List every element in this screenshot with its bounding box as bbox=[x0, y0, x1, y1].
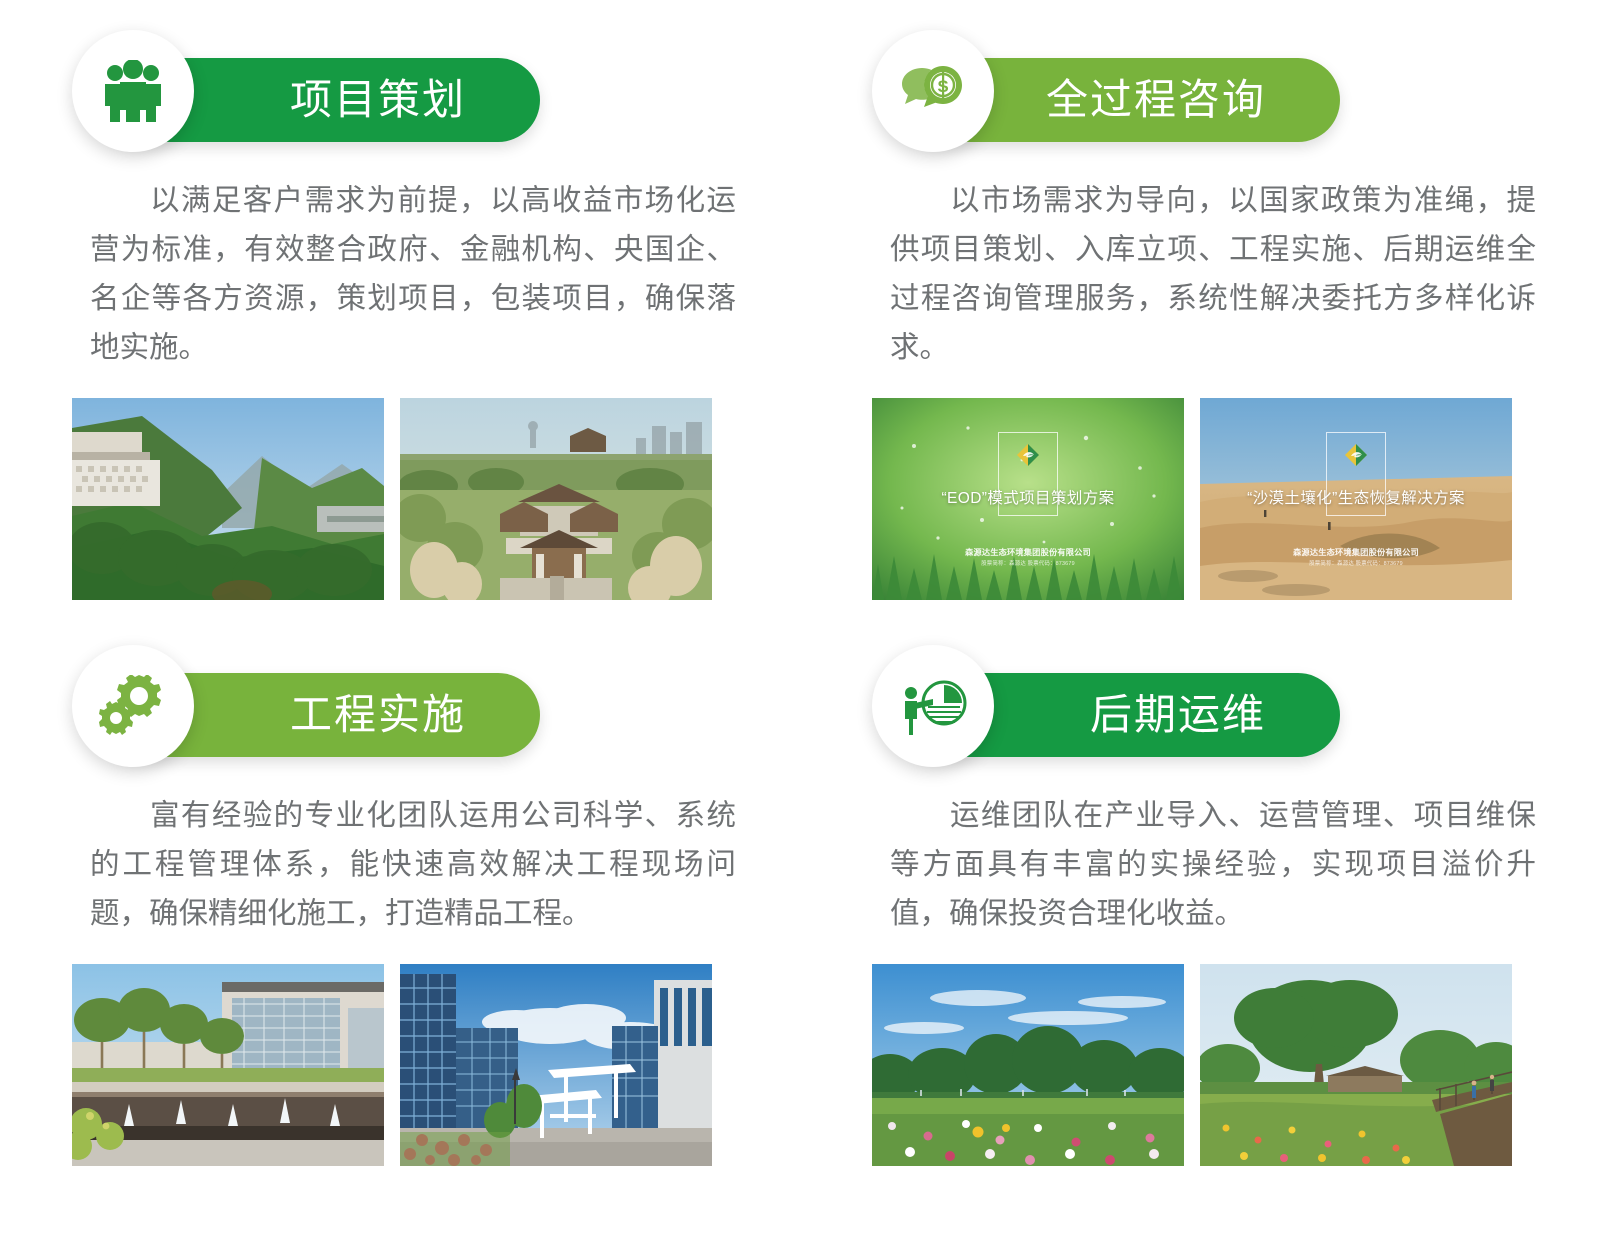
chat-dollar-icon: S bbox=[900, 62, 966, 120]
card-icon-badge: S bbox=[872, 30, 994, 152]
desert-soilization-proposal-cover-photo: “沙漠土壤化”生态恢复解决方案 森源达生态环境集团股份有限公司 股票简称：森源达… bbox=[1200, 398, 1512, 600]
card-header: 工程实施 bbox=[72, 645, 792, 785]
card-title: 项目策划 bbox=[290, 79, 466, 121]
park-boardwalk-tree-photo bbox=[1200, 964, 1512, 1166]
cover-stock-info: 股票简称：森源达 股票代码：873679 bbox=[1200, 559, 1512, 567]
presenter-pie-chart-icon bbox=[899, 675, 967, 737]
card-title: 工程实施 bbox=[290, 694, 466, 736]
card-icon-badge bbox=[72, 30, 194, 152]
card-photo-row bbox=[72, 398, 792, 600]
aerial-park-pavilion-photo bbox=[400, 398, 712, 600]
card-title: 全过程咨询 bbox=[1046, 79, 1266, 121]
card-icon-badge bbox=[872, 645, 994, 767]
courtyard-water-feature-photo bbox=[72, 964, 384, 1166]
cover-company-name: 森源达生态环境集团股份有限公司 bbox=[1200, 546, 1512, 558]
cover-title: “沙漠土壤化”生态恢复解决方案 bbox=[1200, 486, 1512, 508]
card-header: 后期运维 bbox=[872, 645, 1592, 785]
card-header: 全过程咨询 S bbox=[872, 30, 1592, 170]
modern-office-plaza-photo bbox=[400, 964, 712, 1166]
cover-company-name: 森源达生态环境集团股份有限公司 bbox=[872, 546, 1184, 558]
card-description: 富有经验的专业化团队运用公司科学、系统的工程管理体系，能快速高效解决工程现场问题… bbox=[90, 791, 736, 938]
gears-icon bbox=[99, 675, 167, 737]
company-logo-icon bbox=[1343, 442, 1369, 468]
card-title: 后期运维 bbox=[1090, 694, 1266, 736]
cover-stock-info: 股票简称：森源达 股票代码：873679 bbox=[872, 559, 1184, 567]
card-engineering-implementation: 工程实施 富有经验的专业化团队运用公 bbox=[72, 645, 792, 1166]
cover-title: “EOD”模式项目策划方案 bbox=[872, 486, 1184, 508]
card-header: 项目策划 bbox=[72, 30, 792, 170]
card-photo-row: “EOD”模式项目策划方案 森源达生态环境集团股份有限公司 股票简称：森源达 股… bbox=[872, 398, 1592, 600]
card-description: 运维团队在产业导入、运营管理、项目维保等方面具有丰富的实操经验，实现项目溢价升值… bbox=[890, 791, 1536, 938]
card-description: 以满足客户需求为前提，以高收益市场化运营为标准，有效整合政府、金融机构、央国企、… bbox=[90, 176, 736, 372]
card-photo-row bbox=[872, 964, 1592, 1166]
eod-proposal-cover-photo: “EOD”模式项目策划方案 森源达生态环境集团股份有限公司 股票简称：森源达 股… bbox=[872, 398, 1184, 600]
card-icon-badge bbox=[72, 645, 194, 767]
people-group-icon bbox=[100, 60, 166, 122]
card-post-operation-maintenance: 后期运维 运维团队在产业导入、运营管理、项目维保 bbox=[872, 645, 1592, 1166]
card-description: 以市场需求为导向，以国家政策为准绳，提供项目策划、入库立项、工程实施、后期运维全… bbox=[890, 176, 1536, 372]
card-project-planning: 项目策划 以满足客户需求为前提，以高收益市场化运营为标准，有效整合政府、金融机构… bbox=[72, 30, 792, 600]
card-photo-row bbox=[72, 964, 792, 1166]
card-whole-process-consulting: 全过程咨询 S 以市场需求为导向，以国家政策为准绳，提供项目策划、入库立项、工程 bbox=[872, 30, 1592, 600]
wildflower-meadow-photo bbox=[872, 964, 1184, 1166]
company-logo-icon bbox=[1015, 442, 1041, 468]
service-capability-grid: 项目策划 以满足客户需求为前提，以高收益市场化运营为标准，有效整合政府、金融机构… bbox=[0, 0, 1600, 1236]
mountain-valley-resort-photo bbox=[72, 398, 384, 600]
